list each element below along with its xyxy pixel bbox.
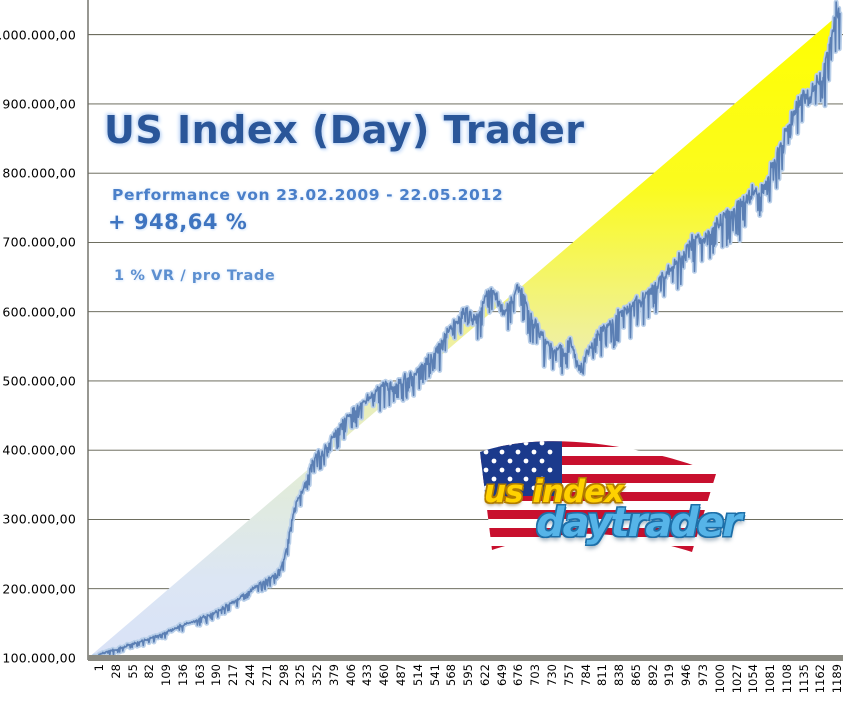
x-tick-label: 676 [511, 664, 525, 686]
plot-area [0, 0, 843, 709]
x-tick-label: 109 [159, 664, 173, 686]
x-tick-label: 649 [495, 664, 509, 686]
x-axis: 1285582109136163190217244271298325352379… [0, 664, 843, 709]
x-tick-label: 163 [193, 664, 207, 686]
x-tick-label: 514 [411, 664, 425, 686]
x-tick-label: 136 [176, 664, 190, 686]
equity-curve-chart: 100.000,00200.000,00300.000,00400.000,00… [0, 0, 843, 709]
x-tick-label: 838 [612, 664, 626, 686]
x-tick-label: 568 [444, 664, 458, 686]
x-tick-label: 1108 [780, 664, 794, 693]
x-tick-label: 541 [428, 664, 442, 686]
x-tick-label: 1027 [730, 664, 744, 693]
x-tick-label: 1054 [746, 664, 760, 693]
x-tick-label: 298 [277, 664, 291, 686]
x-tick-label: 784 [579, 664, 593, 686]
x-tick-label: 1081 [763, 664, 777, 693]
x-tick-label: 244 [243, 664, 257, 686]
x-tick-label: 919 [662, 664, 676, 686]
x-tick-label: 325 [293, 664, 307, 686]
brand-logo: us index daytrader [466, 424, 778, 576]
x-tick-label: 865 [629, 664, 643, 686]
x-tick-label: 595 [461, 664, 475, 686]
x-tick-label: 973 [696, 664, 710, 686]
x-tick-label: 55 [126, 664, 140, 679]
x-tick-label: 703 [528, 664, 542, 686]
x-tick-label: 1135 [797, 664, 811, 693]
x-axis-band [88, 655, 843, 661]
x-tick-label: 82 [142, 664, 156, 679]
x-tick-label: 271 [260, 664, 274, 686]
x-tick-label: 217 [226, 664, 240, 686]
x-tick-label: 811 [595, 664, 609, 686]
x-tick-label: 379 [327, 664, 341, 686]
x-tick-label: 1189 [830, 664, 843, 693]
x-tick-label: 487 [394, 664, 408, 686]
x-tick-label: 460 [377, 664, 391, 686]
x-tick-label: 730 [545, 664, 559, 686]
x-tick-label: 1 [92, 664, 106, 671]
x-tick-label: 1162 [813, 664, 827, 693]
x-tick-label: 28 [109, 664, 123, 679]
x-tick-label: 622 [478, 664, 492, 686]
x-tick-label: 892 [646, 664, 660, 686]
logo-word-daytrader: daytrader [536, 500, 740, 546]
x-tick-label: 352 [310, 664, 324, 686]
x-tick-label: 1000 [713, 664, 727, 693]
x-tick-label: 433 [360, 664, 374, 686]
x-tick-label: 406 [344, 664, 358, 686]
x-tick-label: 946 [679, 664, 693, 686]
x-tick-label: 190 [209, 664, 223, 686]
x-tick-label: 757 [562, 664, 576, 686]
